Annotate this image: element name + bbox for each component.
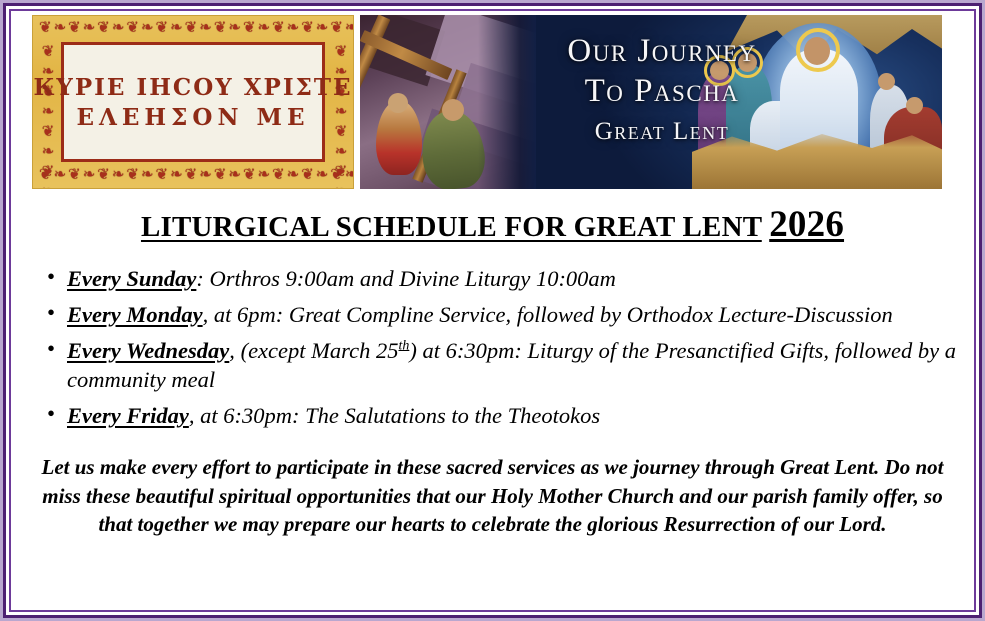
poster-page: ❦❧❦❧❦❧❦❧❦❧❦❧❦❧❦❧❦❧❦❧❦❧ ❦❧❦❧❦❧❦❧❦❧❦❧❦❧❦❧❦… xyxy=(11,11,974,610)
banner-line-1: Our Journey xyxy=(532,31,792,71)
schedule-item: Every Wednesday, (except March 25th) at … xyxy=(37,336,956,396)
scene-fade-overlay xyxy=(478,15,536,189)
schedule-day-label: Every Friday xyxy=(67,403,189,428)
schedule-item: Every Friday, at 6:30pm: The Salutations… xyxy=(37,401,956,431)
ornament-top-icon: ❦❧❦❧❦❧❦❧❦❧❦❧❦❧❦❧❦❧❦❧❦❧ xyxy=(39,21,354,36)
schedule-day-label: Every Sunday xyxy=(67,266,196,291)
liturgical-schedule-list: Every Sunday: Orthros 9:00am and Divine … xyxy=(37,264,956,432)
christ-carrying-cross-scene xyxy=(360,15,536,189)
page-title-year: 2026 xyxy=(769,204,844,245)
closing-paragraph: Let us make every effort to participate … xyxy=(39,453,946,539)
ornament-left-icon: ❦❧❦❧❦❧❦❧ xyxy=(39,42,54,189)
christ-halo-icon xyxy=(796,28,840,72)
header-image-band: ❦❧❦❧❦❧❦❧❦❧❦❧❦❧❦❧❦❧❦❧❦❧ ❦❧❦❧❦❧❦❧❦❧❦❧❦❧❦❧❦… xyxy=(11,11,974,199)
page-title: LITURGICAL SCHEDULE FOR GREAT LENT 2026 xyxy=(11,205,974,246)
ornament-bottom-icon: ❦❧❦❧❦❧❦❧❦❧❦❧❦❧❦❧❦❧❦❧❦❧ xyxy=(39,168,354,183)
ornament-right-icon: ❦❧❦❧❦❧❦❧ xyxy=(332,42,347,189)
banner-title-text: Our Journey To Pascha Great Lent xyxy=(532,31,792,147)
schedule-day-label: Every Wednesday xyxy=(67,338,229,363)
poster-frame-mid: ❦❧❦❧❦❧❦❧❦❧❦❧❦❧❦❧❦❧❦❧❦❧ ❦❧❦❧❦❧❦❧❦❧❦❧❦❧❦❧❦… xyxy=(3,3,982,618)
schedule-day-label: Every Monday xyxy=(67,302,203,327)
prayer-line-2: ΕΛΕΗΣΟΝ ΜΕ xyxy=(77,106,310,129)
poster-frame-outer: ❦❧❦❧❦❧❦❧❦❧❦❧❦❧❦❧❦❧❦❧❦❧ ❦❧❦❧❦❧❦❧❦❧❦❧❦❧❦❧❦… xyxy=(0,0,985,621)
schedule-detail: , (except March 25 xyxy=(229,338,398,363)
christ-head xyxy=(442,99,464,121)
poster-frame-gap: ❦❧❦❧❦❧❦❧❦❧❦❧❦❧❦❧❦❧❦❧❦❧ ❦❧❦❧❦❧❦❧❦❧❦❧❦❧❦❧❦… xyxy=(6,6,979,615)
schedule-detail: : Orthros 9:00am and Divine Liturgy 10:0… xyxy=(196,266,616,291)
figure-head xyxy=(878,73,895,90)
soldier-head xyxy=(388,93,408,113)
schedule-date-ordinal: th xyxy=(398,338,409,353)
schedule-item: Every Sunday: Orthros 9:00am and Divine … xyxy=(37,264,956,294)
banner-line-3: Great Lent xyxy=(532,117,792,148)
schedule-detail: , at 6pm: Great Compline Service, follow… xyxy=(203,302,893,327)
our-journey-to-pascha-banner: Our Journey To Pascha Great Lent xyxy=(360,15,942,189)
schedule-detail: , at 6:30pm: The Salutations to the Theo… xyxy=(189,403,600,428)
poster-frame-inner: ❦❧❦❧❦❧❦❧❦❧❦❧❦❧❦❧❦❧❦❧❦❧ ❦❧❦❧❦❧❦❧❦❧❦❧❦❧❦❧❦… xyxy=(9,9,976,612)
schedule-item: Every Monday, at 6pm: Great Compline Ser… xyxy=(37,300,956,330)
jesus-prayer-icon: ❦❧❦❧❦❧❦❧❦❧❦❧❦❧❦❧❦❧❦❧❦❧ ❦❧❦❧❦❧❦❧❦❧❦❧❦❧❦❧❦… xyxy=(32,15,354,189)
prayer-line-1: КΥΡΙΕ ΙΗСΟΥ ΧΡΙΣΤΕ xyxy=(34,76,353,99)
banner-line-2: To Pascha xyxy=(532,71,792,111)
figure-head xyxy=(906,97,923,114)
jesus-prayer-text-panel: КΥΡΙΕ ΙΗСΟΥ ΧΡΙΣΤΕ ΕΛΕΗΣΟΝ ΜΕ xyxy=(61,42,325,162)
page-title-main: LITURGICAL SCHEDULE FOR GREAT LENT xyxy=(141,211,762,243)
